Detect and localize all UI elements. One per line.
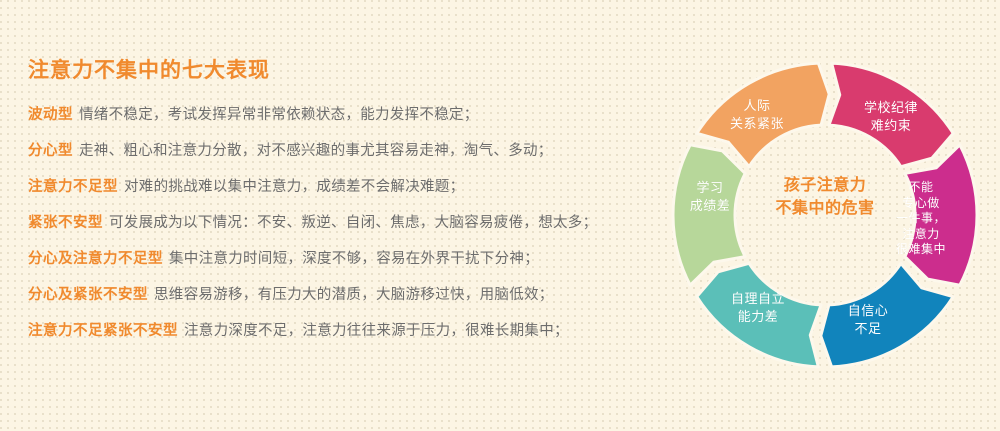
list-item-text: 对难的挑战难以集中注意力，成绩差不会解决难题； — [124, 179, 464, 195]
list-item-label: 紧张不安型 — [28, 215, 103, 231]
list-item-text: 可发展成为以下情况：不安、叛逆、自闭、焦虑，大脑容易疲倦，想太多； — [109, 215, 597, 231]
list-item-label: 分心及注意力不足型 — [28, 251, 163, 267]
list-item: 波动型情绪不稳定，考试发挥异常非常依赖状态，能力发挥不稳定； — [28, 105, 668, 126]
diagram-center-title: 孩子注意力 不集中的危害 — [735, 173, 915, 219]
center-title-line1: 孩子注意力 — [735, 173, 915, 196]
ring-segment-poor-self-care[interactable] — [697, 263, 821, 367]
list-item-text: 集中注意力时间短，深度不够，容易在外界干扰下分神； — [169, 251, 539, 267]
ring-segment-school-discipline[interactable] — [829, 63, 953, 167]
list-item-label: 波动型 — [28, 107, 73, 123]
list-item: 注意力不足型对难的挑战难以集中注意力，成绩差不会解决难题； — [28, 177, 668, 198]
list-item: 注意力不足紧张不安型注意力深度不足，注意力往往来源于压力，很难长期集中； — [28, 321, 668, 342]
list-item-text: 情绪不稳定，考试发挥异常非常依赖状态，能力发挥不稳定； — [79, 107, 479, 123]
center-title-line2: 不集中的危害 — [735, 196, 915, 219]
list-item-label: 分心型 — [28, 143, 73, 159]
infographic-page: 注意力不集中的七大表现 波动型情绪不稳定，考试发挥异常非常依赖状态，能力发挥不稳… — [0, 0, 1000, 431]
list-item-text: 走神、粗心和注意力分散，对不感兴趣的事尤其容易走神，淘气、多动； — [79, 143, 553, 159]
list-item: 紧张不安型可发展成为以下情况：不安、叛逆、自闭、焦虑，大脑容易疲倦，想太多； — [28, 213, 668, 234]
list-item-label: 注意力不足型 — [28, 179, 118, 195]
list-item: 分心及注意力不足型集中注意力时间短，深度不够，容易在外界干扰下分神； — [28, 249, 668, 270]
symptoms-panel: 注意力不集中的七大表现 波动型情绪不稳定，考试发挥异常非常依赖状态，能力发挥不稳… — [28, 58, 668, 357]
page-title: 注意力不集中的七大表现 — [28, 58, 668, 83]
list-item-label: 注意力不足紧张不安型 — [28, 323, 178, 339]
harm-cycle-diagram: 学校纪律难约束 不能专心做一件事，注意力很难集中 自信心不足 自理自立能力差 学… — [650, 45, 1000, 385]
list-item-text: 思维容易游移，有压力大的潜质，大脑游移过快，用脑低效； — [154, 287, 554, 303]
list-item: 分心及紧张不安型思维容易游移，有压力大的潜质，大脑游移过快，用脑低效； — [28, 285, 668, 306]
list-item: 分心型走神、粗心和注意力分散，对不感兴趣的事尤其容易走神，淘气、多动； — [28, 141, 668, 162]
ring-segment-cannot-focus[interactable] — [905, 145, 977, 285]
list-item-text: 注意力深度不足，注意力往往来源于压力，很难长期集中； — [184, 323, 569, 339]
list-item-label: 分心及紧张不安型 — [28, 287, 148, 303]
